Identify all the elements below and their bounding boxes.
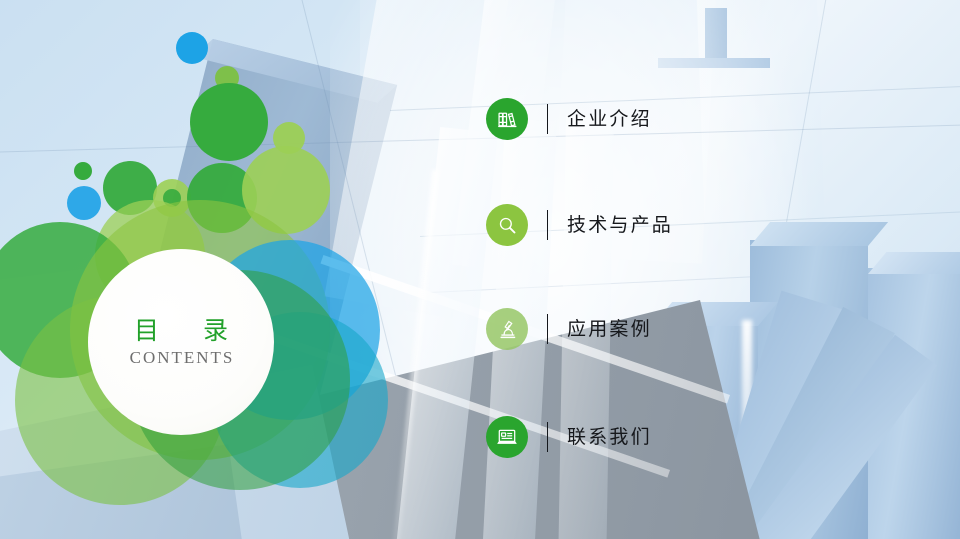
decor-circle-5 <box>67 186 101 220</box>
contents-title-cn: 目 录 <box>116 318 246 343</box>
decor-circle-0 <box>176 32 208 64</box>
menu-item-company-intro[interactable]: 企业介绍 <box>486 96 652 142</box>
laptop-icon <box>486 416 528 458</box>
menu-divider <box>547 104 548 134</box>
contents-slide: 目 录 CONTENTS 企业介绍 <box>0 0 960 539</box>
decor-circle-4 <box>74 162 92 180</box>
menu-item-tech-products[interactable]: 技术与产品 <box>486 202 673 248</box>
menu-item-use-cases[interactable]: 应用案例 <box>486 306 652 352</box>
menu-divider <box>547 314 548 344</box>
menu-divider <box>547 422 548 452</box>
contents-disc: 目 录 CONTENTS <box>88 249 274 435</box>
contents-title-en: CONTENTS <box>128 349 235 366</box>
menu-item-label: 联系我们 <box>567 428 652 447</box>
menu-divider <box>547 210 548 240</box>
magnifier-icon <box>486 204 528 246</box>
menu-item-contact-us[interactable]: 联系我们 <box>486 414 652 460</box>
menu-item-label: 技术与产品 <box>567 216 673 235</box>
decor-circle-2 <box>190 83 268 161</box>
microscope-icon <box>486 308 528 350</box>
books-icon <box>486 98 528 140</box>
menu-item-label: 应用案例 <box>567 320 652 339</box>
menu-item-label: 企业介绍 <box>567 110 652 129</box>
